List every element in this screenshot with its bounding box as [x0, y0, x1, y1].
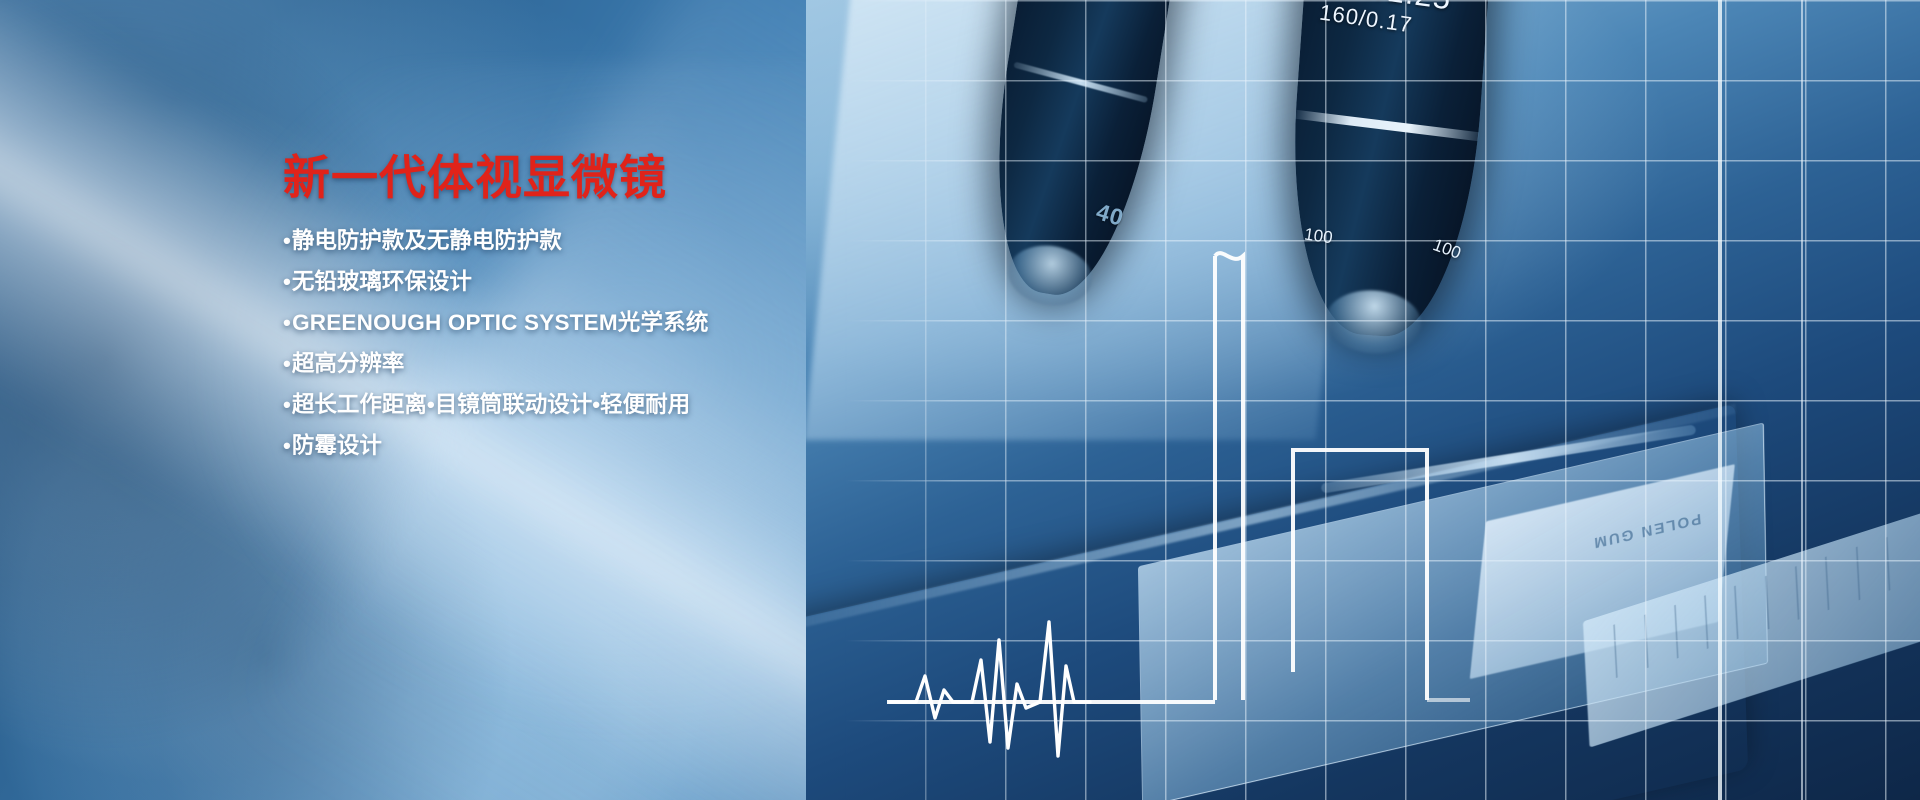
- feature-label: 超高分辨率: [292, 351, 405, 376]
- feature-item-5: •超长工作距离•目镜筒联动设计•轻便耐用: [283, 394, 923, 417]
- product-banner: POLEN GUM 40 100/1.25 160/0.17 100 100: [0, 0, 1920, 800]
- microscope-photo: POLEN GUM 40 100/1.25 160/0.17 100 100: [806, 0, 1920, 800]
- lens-front-engraving: 100/1.25 160/0.17: [1319, 0, 1455, 43]
- bullet-icon: •: [283, 392, 291, 417]
- feature-label: GREENOUGH OPTIC SYSTEM光学系统: [292, 310, 708, 335]
- feature-label: 防霉设计: [292, 433, 382, 458]
- bullet-icon: •: [283, 351, 291, 376]
- lens-rear-band: [1014, 61, 1149, 103]
- feature-item-6: •防霉设计: [283, 435, 923, 458]
- lens-front-ring: [1296, 110, 1479, 141]
- feature-label: 超长工作距离•目镜筒联动设计•轻便耐用: [292, 392, 690, 417]
- feature-item-1: •静电防护款及无静电防护款: [283, 230, 923, 253]
- feature-item-4: •超高分辨率: [283, 353, 923, 376]
- bullet-icon: •: [283, 433, 291, 458]
- bullet-icon: •: [283, 269, 291, 294]
- page-title: 新一代体视显微镜: [283, 152, 923, 204]
- bullet-icon: •: [283, 228, 291, 253]
- feature-list: •静电防护款及无静电防护款 •无铅玻璃环保设计 •GREENOUGH OPTIC…: [283, 230, 923, 458]
- copy-block: 新一代体视显微镜 •静电防护款及无静电防护款 •无铅玻璃环保设计 •GREENO…: [283, 152, 923, 476]
- lens-front-ring-number-left: 100: [1303, 224, 1334, 248]
- feature-label: 静电防护款及无静电防护款: [292, 228, 562, 253]
- feature-item-3: •GREENOUGH OPTIC SYSTEM光学系统: [283, 312, 923, 335]
- feature-item-2: •无铅玻璃环保设计: [283, 271, 923, 294]
- bullet-icon: •: [283, 310, 291, 335]
- feature-label: 无铅玻璃环保设计: [292, 269, 472, 294]
